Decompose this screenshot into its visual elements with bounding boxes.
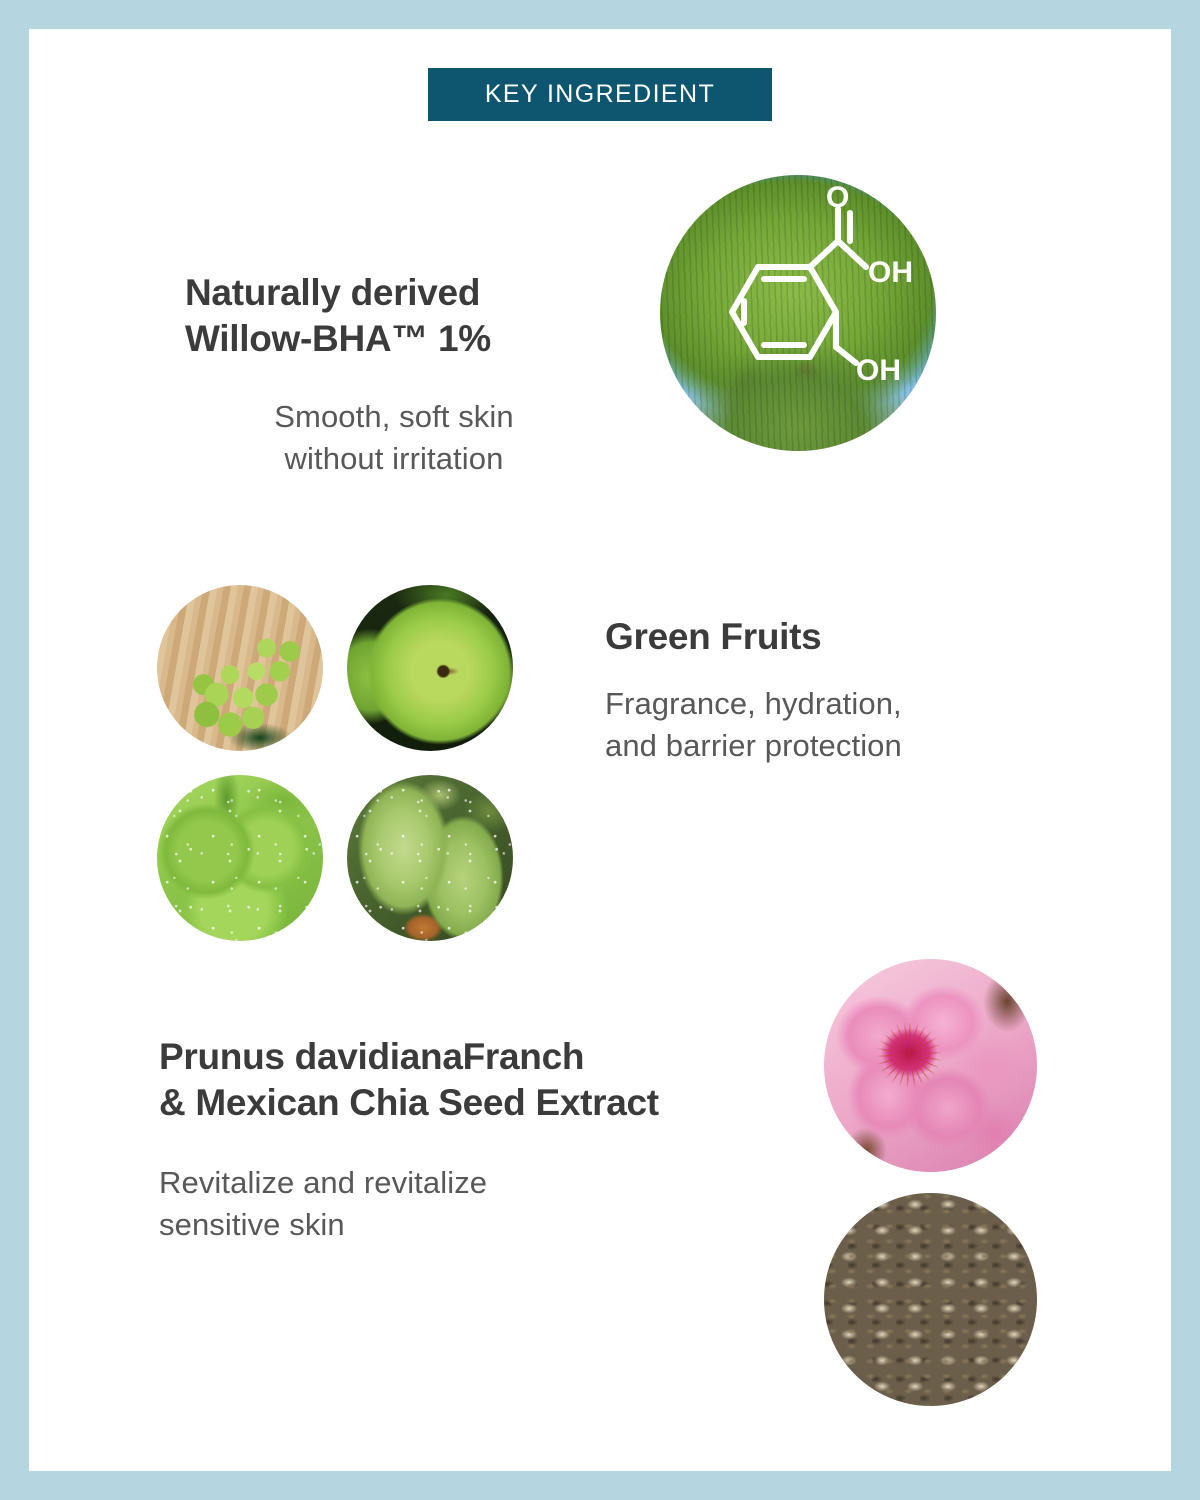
molecule-label-o: O xyxy=(826,181,849,214)
section-1-body: Smooth, soft skin without irritation xyxy=(194,396,594,480)
willow-tree-photo: O OH OH xyxy=(660,175,936,451)
molecule-label-oh-bottom: OH xyxy=(856,354,901,387)
green-papaya-photo xyxy=(347,775,513,941)
dew-droplets-texture xyxy=(157,775,323,941)
poster-canvas: KEY INGREDIENT Naturally derived Willow-… xyxy=(29,29,1171,1471)
green-grapes-photo xyxy=(157,585,323,751)
molecule-label-oh-right: OH xyxy=(868,256,913,289)
section-1-headline: Naturally derived Willow-BHA™ 1% xyxy=(185,270,605,362)
chia-seeds-photo xyxy=(824,1193,1037,1406)
seed-texture-overlay xyxy=(824,1193,1037,1406)
section-3-headline: Prunus davidianaFranch & Mexican Chia Se… xyxy=(159,1034,859,1126)
section-2-headline: Green Fruits xyxy=(605,614,1035,660)
section-3-body: Revitalize and revitalize sensitive skin xyxy=(159,1162,629,1246)
dew-droplets-texture xyxy=(347,775,513,941)
badge-label: KEY INGREDIENT xyxy=(485,80,715,109)
key-ingredient-badge: KEY INGREDIENT xyxy=(428,68,772,121)
green-apple-photo xyxy=(347,585,513,751)
salicylic-acid-molecule-icon: O OH OH xyxy=(660,175,936,451)
stamen-texture xyxy=(824,959,1037,1172)
green-plum-photo xyxy=(157,775,323,941)
peach-blossom-photo xyxy=(824,959,1037,1172)
section-2-body: Fragrance, hydration, and barrier protec… xyxy=(605,683,1045,767)
